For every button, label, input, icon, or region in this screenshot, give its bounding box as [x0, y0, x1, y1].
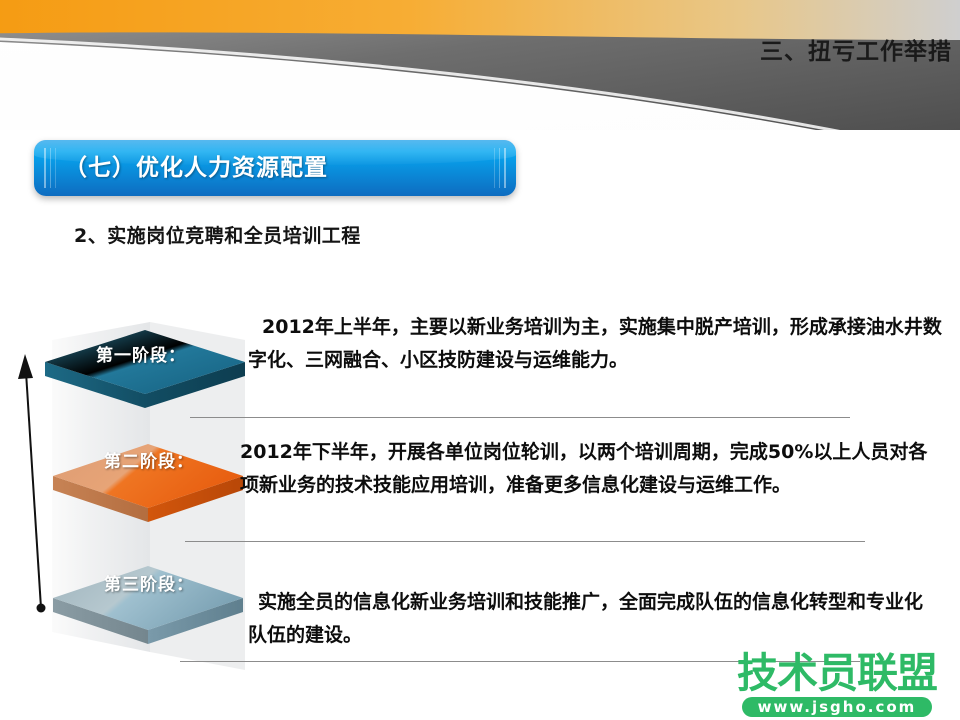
- section-title-bar[interactable]: （七）优化人力资源配置: [34, 140, 516, 196]
- watermark-logo: 技术员联盟 www.jsgho.com: [724, 652, 950, 717]
- section-title-text: （七）优化人力资源配置: [64, 140, 328, 196]
- stage-label-2: 第二阶段：: [104, 447, 194, 472]
- header-banner: 三、扭亏工作举措: [0, 0, 960, 130]
- separator-line-2: [185, 541, 865, 542]
- title-bar-accent-line-left-1: [44, 148, 46, 188]
- upward-arrow-icon: [18, 354, 46, 613]
- title-bar-accent-line-right-3: [494, 148, 495, 188]
- stage-text-1: 2012年上半年，主要以新业务培训为主，实施集中脱产培训，形成承接油水井数字化、…: [248, 311, 944, 377]
- slide-canvas: 三、扭亏工作举措 （七）优化人力资源配置 2、实施岗位竞聘和全员培训工程: [0, 0, 960, 720]
- title-bar-accent-line-left-3: [55, 148, 56, 188]
- title-bar-accent-line-right-1: [504, 148, 506, 188]
- page-title: 三、扭亏工作举措: [760, 32, 952, 66]
- title-bar-accent-line-right-2: [499, 148, 500, 188]
- stage-text-2: 2012年下半年，开展各单位岗位轮训，以两个培训周期，完成50%以上人员对各项新…: [240, 436, 940, 502]
- stage-text-3: 实施全员的信息化新业务培训和技能推广，全面完成队伍的信息化转型和专业化队伍的建设…: [248, 586, 938, 652]
- section-subtitle: 2、实施岗位竞聘和全员培训工程: [74, 221, 361, 248]
- title-bar-accent-line-left-2: [50, 148, 51, 188]
- watermark-brand: 技术员联盟: [724, 652, 950, 694]
- stage-label-3: 第三阶段：: [104, 570, 194, 595]
- separator-line-1: [190, 417, 850, 418]
- watermark-url: www.jsgho.com: [742, 697, 933, 717]
- stage-label-1: 第一阶段：: [96, 341, 186, 366]
